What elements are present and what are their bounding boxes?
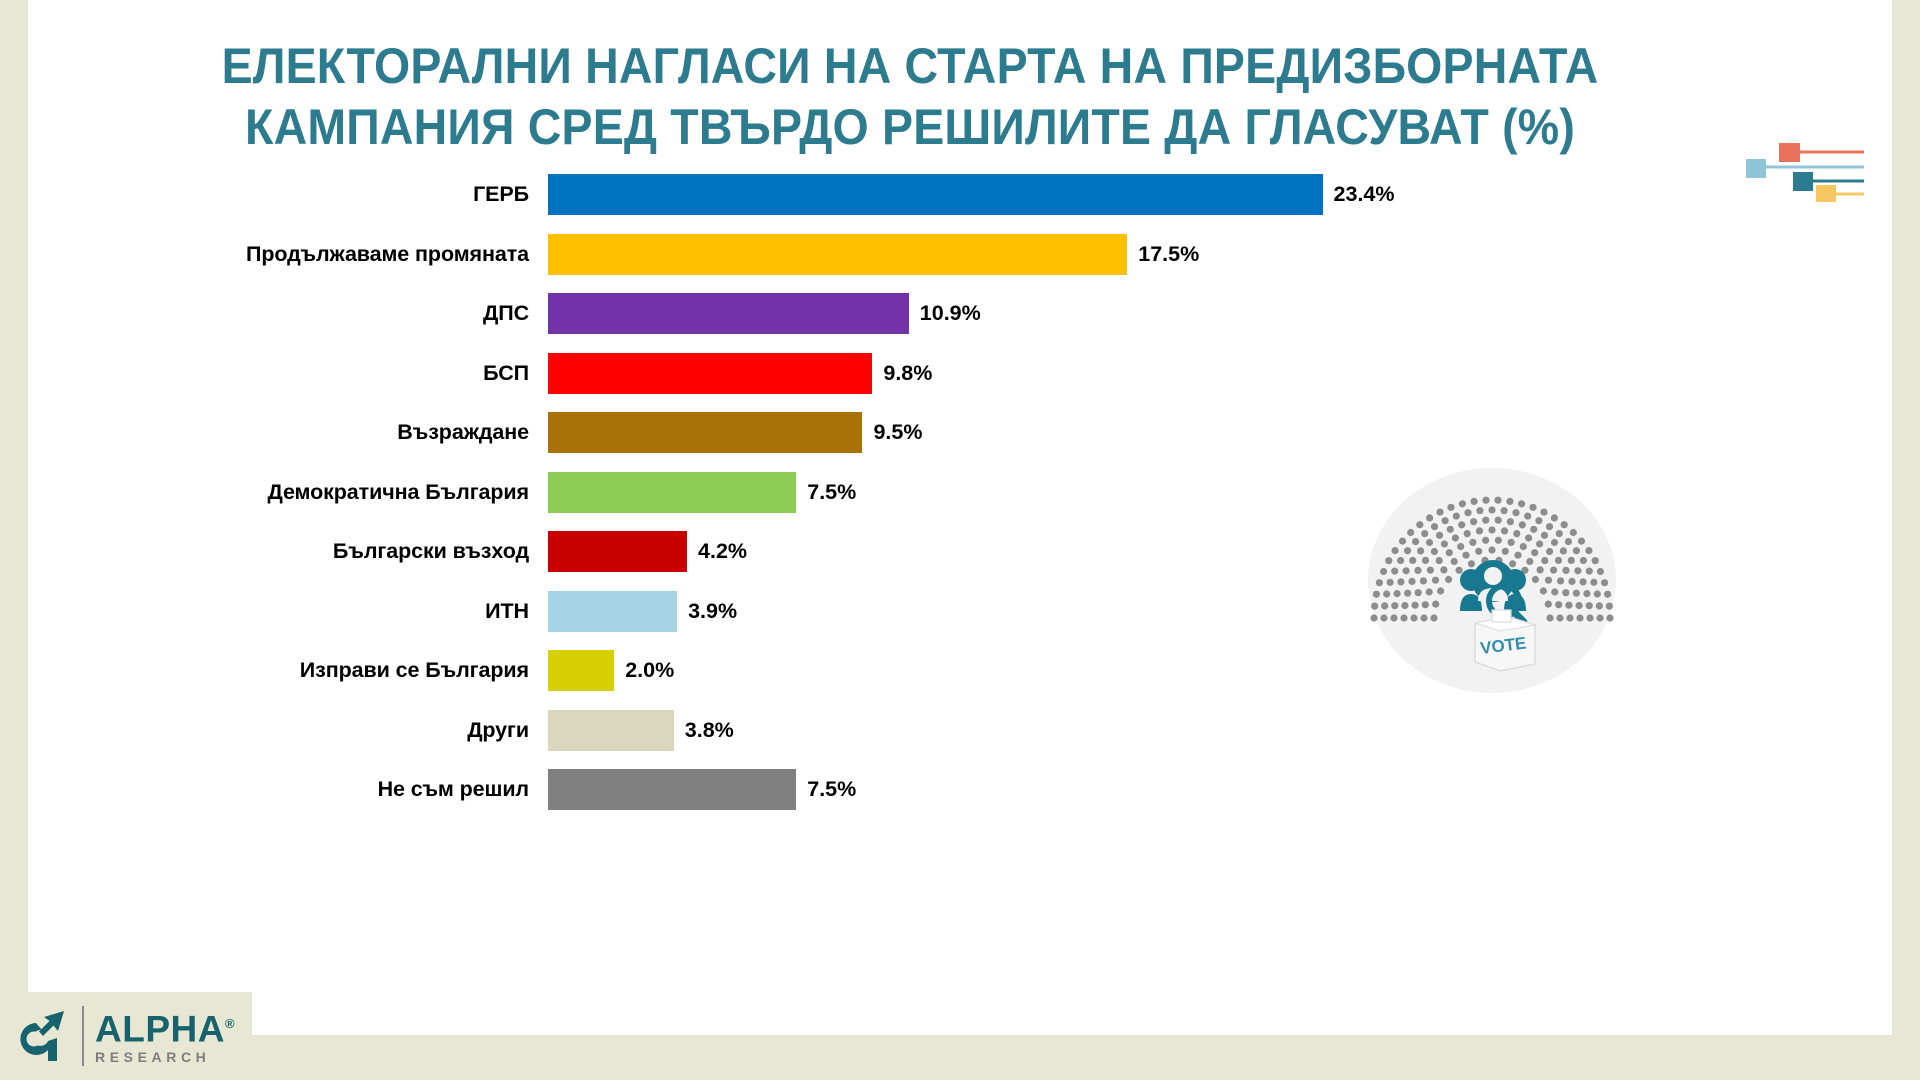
alpha-research-logo: ALPHA® RESEARCH [0, 992, 252, 1080]
bar-track: 7.5% [548, 769, 1864, 810]
logo-research-text: RESEARCH [95, 1048, 235, 1066]
slide-background: ЕЛЕКТОРАЛНИ НАГЛАСИ НА СТАРТА НА ПРЕДИЗБ… [0, 0, 1920, 1080]
bar-category-label: Изправи се България [0, 658, 548, 683]
bar-track: 9.5% [548, 412, 1864, 453]
chart-title: ЕЛЕКТОРАЛНИ НАГЛАСИ НА СТАРТА НА ПРЕДИЗБ… [166, 36, 1654, 158]
bar-segment [548, 591, 677, 632]
bar-segment [548, 353, 872, 394]
bar-segment [548, 174, 1323, 215]
bar-category-label: БСП [0, 361, 548, 386]
logo-registered-mark: ® [225, 1016, 235, 1031]
logo-alpha-label: ALPHA [95, 1009, 225, 1050]
bar-segment [548, 234, 1127, 275]
bar-value-label: 7.5% [807, 480, 856, 505]
bar-track: 4.2% [548, 531, 1864, 572]
bar-row: ИТН3.9% [0, 582, 1864, 642]
bar-row: ДПС10.9% [0, 284, 1864, 344]
bar-track: 7.5% [548, 472, 1864, 513]
bar-row: Изправи се България2.0% [0, 641, 1864, 701]
bar-segment [548, 472, 796, 513]
bar-value-label: 4.2% [698, 539, 747, 564]
logo-wordmark: ALPHA® RESEARCH [82, 1006, 235, 1065]
bar-segment [548, 650, 614, 691]
page-title: ЕЛЕКТОРАЛНИ НАГЛАСИ НА СТАРТА НА ПРЕДИЗБ… [110, 36, 1710, 158]
bar-value-label: 17.5% [1138, 242, 1199, 267]
bar-segment [548, 531, 687, 572]
bar-value-label: 9.8% [883, 361, 932, 386]
bar-row: Продължаваме промяната17.5% [0, 225, 1864, 285]
bar-track: 17.5% [548, 234, 1864, 275]
bar-track: 23.4% [548, 174, 1864, 215]
bar-value-label: 10.9% [920, 301, 981, 326]
bar-category-label: Продължаваме промяната [0, 242, 548, 267]
bar-value-label: 23.4% [1334, 182, 1395, 207]
bar-track: 10.9% [548, 293, 1864, 334]
bar-row: Не съм решил7.5% [0, 760, 1864, 820]
deco-square-coral [1779, 143, 1800, 162]
bar-row: Демократична България7.5% [0, 463, 1864, 523]
bar-chart: ГЕРБ23.4%Продължаваме промяната17.5%ДПС1… [0, 165, 1864, 825]
bar-track: 3.8% [548, 710, 1864, 751]
bar-track: 2.0% [548, 650, 1864, 691]
bar-category-label: Други [0, 718, 548, 743]
bar-value-label: 3.9% [688, 599, 737, 624]
alpha-arrow-icon [14, 1007, 72, 1065]
bar-value-label: 2.0% [625, 658, 674, 683]
bar-row: Други3.8% [0, 701, 1864, 761]
bar-category-label: ДПС [0, 301, 548, 326]
bar-row: Възраждане9.5% [0, 403, 1864, 463]
bar-category-label: ГЕРБ [0, 182, 548, 207]
bar-value-label: 9.5% [873, 420, 922, 445]
bar-track: 9.8% [548, 353, 1864, 394]
bar-category-label: Български възход [0, 539, 548, 564]
bar-segment [548, 710, 674, 751]
bar-segment [548, 769, 796, 810]
bar-segment [548, 293, 909, 334]
bar-category-label: ИТН [0, 599, 548, 624]
bar-row: ГЕРБ23.4% [0, 165, 1864, 225]
bar-track: 3.9% [548, 591, 1864, 632]
bar-row: Български възход4.2% [0, 522, 1864, 582]
bar-value-label: 7.5% [807, 777, 856, 802]
bar-row: БСП9.8% [0, 344, 1864, 404]
bar-segment [548, 412, 862, 453]
logo-alpha-text: ALPHA® [95, 1006, 235, 1047]
bar-category-label: Възраждане [0, 420, 548, 445]
bar-category-label: Не съм решил [0, 777, 548, 802]
bar-value-label: 3.8% [685, 718, 734, 743]
bar-category-label: Демократична България [0, 480, 548, 505]
